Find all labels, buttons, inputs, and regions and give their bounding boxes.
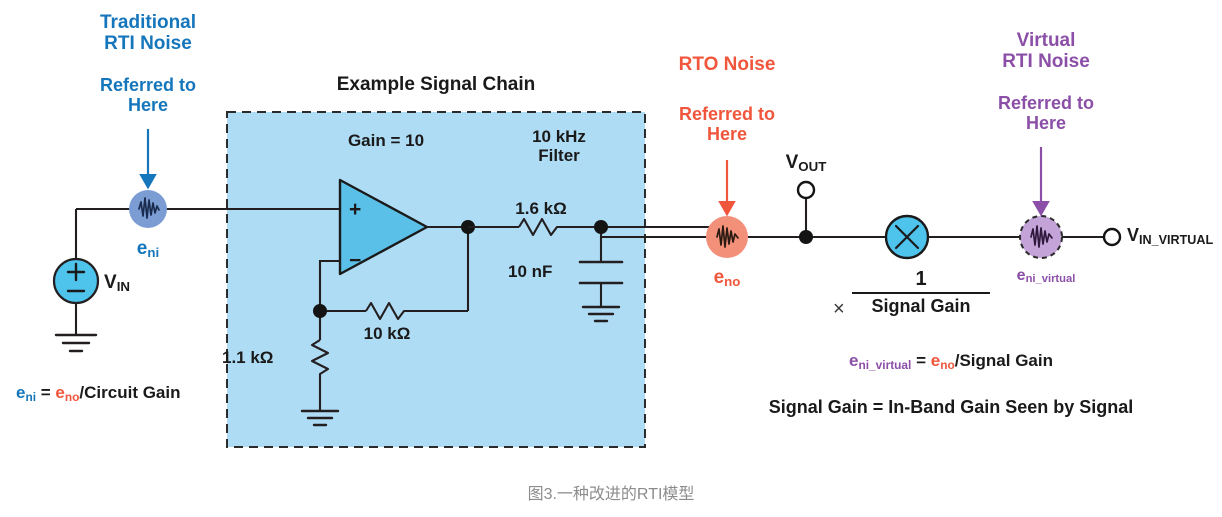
eni-label: eni bbox=[137, 238, 159, 259]
traditional-rti-referred: Referred to Here bbox=[100, 75, 196, 115]
one-over-signal-gain-fraction: 1 Signal Gain bbox=[852, 268, 990, 317]
figure-caption: 图3.一种改进的RTI模型 bbox=[0, 480, 1222, 504]
rto-noise-referred: Referred to Here bbox=[679, 104, 775, 144]
formula-right-term: eno bbox=[55, 383, 79, 402]
junction-dot-vout bbox=[799, 230, 813, 244]
capacitor-label: 10 nF bbox=[508, 262, 552, 281]
vout-terminal bbox=[798, 182, 814, 198]
virtual-rti-title: Virtual RTI Noise bbox=[1002, 30, 1090, 73]
junction-dot-filter-output bbox=[594, 220, 608, 234]
multiply-sign-label: × bbox=[833, 298, 845, 321]
eni-virtual-label: eni_virtual bbox=[1017, 267, 1076, 285]
eno-noise-source bbox=[706, 216, 748, 258]
resistor-gain-label: 1.1 kΩ bbox=[222, 348, 273, 367]
formula-left-term: eni bbox=[16, 383, 36, 402]
resistor-series-label: 1.6 kΩ bbox=[515, 199, 566, 218]
ground-symbol-input bbox=[56, 335, 96, 351]
signal-chain-title: Example Signal Chain bbox=[337, 74, 536, 95]
vin-virtual-terminal bbox=[1104, 229, 1120, 245]
formula-virtual-right-term: eno bbox=[931, 351, 955, 370]
formula-signal-gain-definition: Signal Gain = In-Band Gain Seen by Signa… bbox=[769, 397, 1134, 417]
vin-virtual-label: VIN_VIRTUAL bbox=[1127, 225, 1213, 245]
junction-dot-feedback bbox=[313, 304, 327, 318]
opamp-noninverting-input-label: + bbox=[349, 198, 361, 222]
eno-label: eno bbox=[714, 267, 741, 288]
filter-label: 10 kHz Filter bbox=[532, 127, 586, 165]
gain-label: Gain = 10 bbox=[348, 131, 424, 150]
formula-eni-circuit-gain: eni = eno/Circuit Gain bbox=[16, 383, 181, 402]
eni-virtual-noise-source bbox=[1020, 216, 1062, 258]
figure-root: Traditional RTI Noise Referred to Here e… bbox=[0, 0, 1222, 517]
formula-eni-virtual: eni_virtual = eno/Signal Gain bbox=[849, 351, 1053, 370]
resistor-feedback-label: 10 kΩ bbox=[364, 324, 411, 343]
rto-noise-title: RTO Noise bbox=[679, 54, 776, 75]
traditional-rti-title: Traditional RTI Noise bbox=[100, 12, 196, 55]
opamp-inverting-input-label: − bbox=[349, 249, 361, 273]
virtual-rti-referred: Referred to Here bbox=[998, 93, 1094, 133]
fraction-numerator: 1 bbox=[852, 268, 990, 292]
formula-virtual-left-term: eni_virtual bbox=[849, 351, 911, 370]
fraction-denominator: Signal Gain bbox=[852, 294, 990, 317]
vin-label: VIN bbox=[104, 272, 130, 293]
vout-label: VOUT bbox=[786, 152, 827, 173]
